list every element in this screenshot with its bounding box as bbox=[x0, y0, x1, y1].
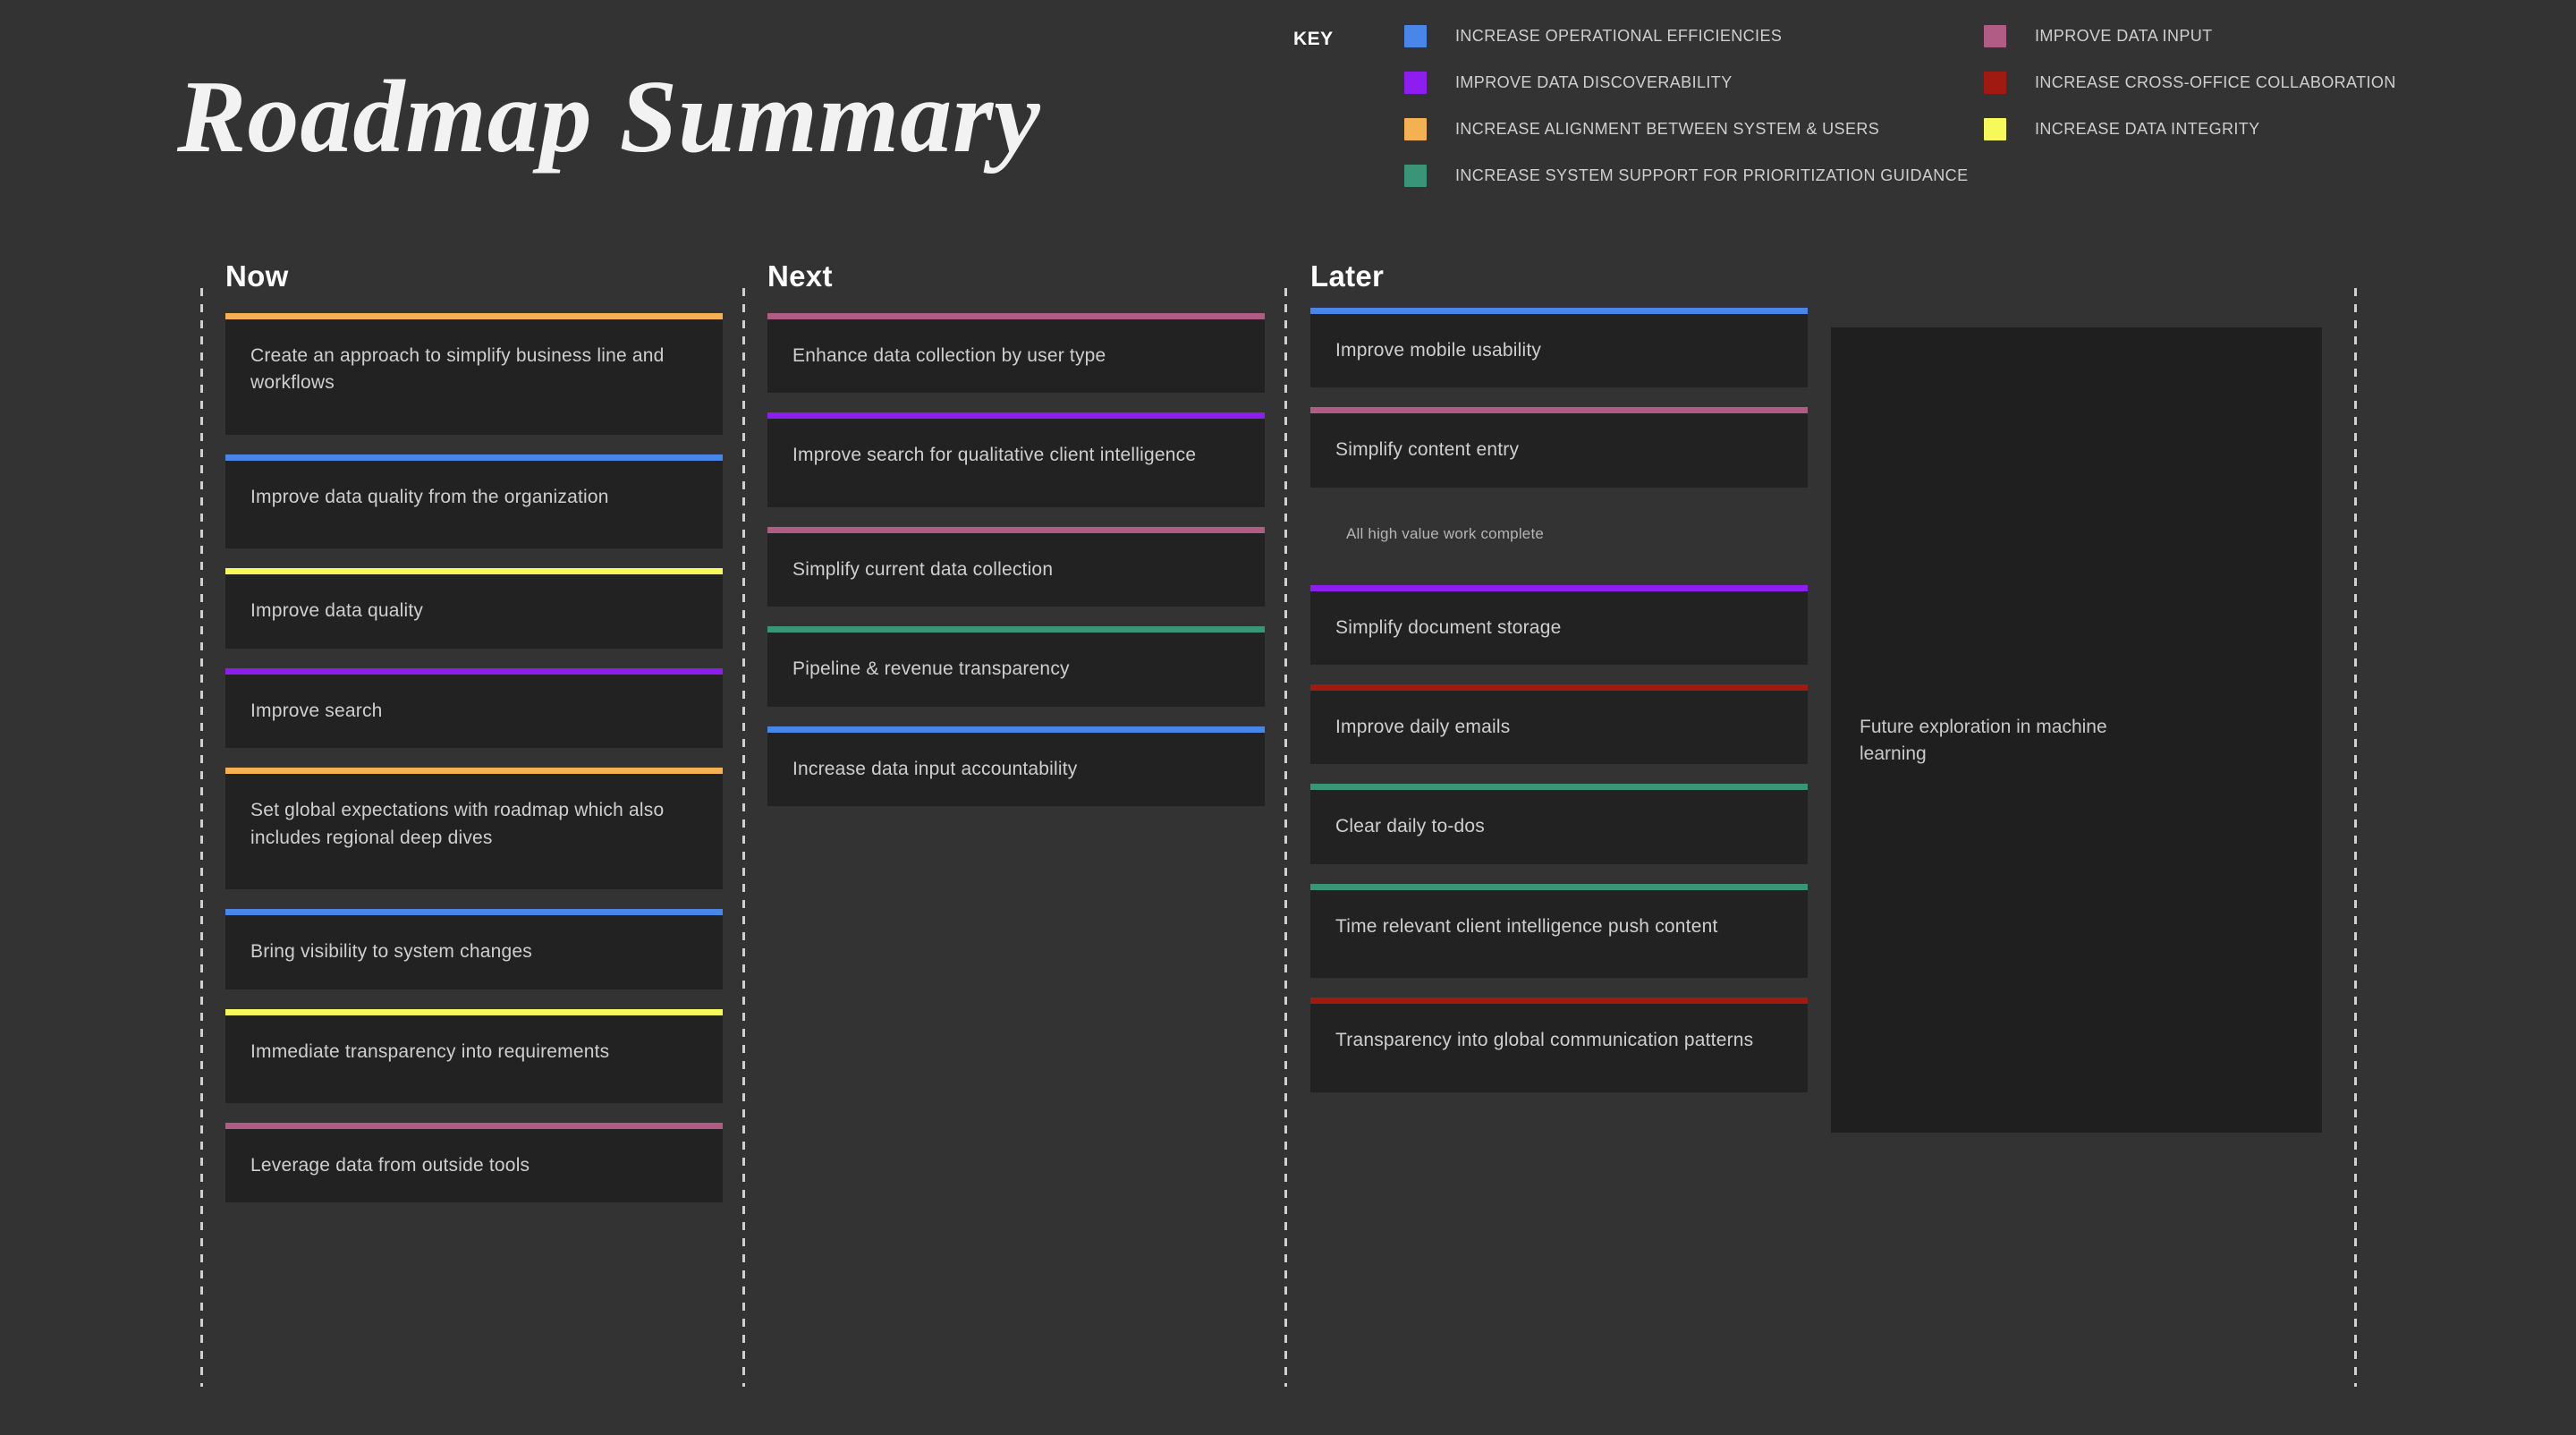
card-label: Immediate transparency into requirements bbox=[225, 1015, 723, 1103]
card-label: Pipeline & revenue transparency bbox=[767, 633, 1265, 706]
legend-item-label: IMPROVE DATA DISCOVERABILITY bbox=[1455, 73, 1733, 92]
card-label: Transparency into global communication p… bbox=[1310, 1004, 1808, 1091]
card-category-bar bbox=[1310, 308, 1808, 314]
legend: KEY INCREASE OPERATIONAL EFFICIENCIESIMP… bbox=[1293, 13, 2563, 183]
column-divider bbox=[1284, 288, 1287, 1387]
roadmap-card[interactable]: Improve daily emails bbox=[1310, 684, 1808, 764]
card-label: Enhance data collection by user type bbox=[767, 319, 1265, 393]
card-label: Set global expectations with roadmap whi… bbox=[225, 774, 723, 889]
column-divider bbox=[742, 288, 745, 1387]
card-label: Improve search bbox=[225, 675, 723, 748]
card-label: Leverage data from outside tools bbox=[225, 1129, 723, 1202]
card-label: Bring visibility to system changes bbox=[225, 915, 723, 989]
roadmap-column-later: Later Improve mobile usabilitySimplify c… bbox=[1310, 259, 1808, 1112]
roadmap-card[interactable]: Time relevant client intelligence push c… bbox=[1310, 884, 1808, 978]
legend-color-swatch bbox=[1984, 118, 2006, 140]
legend-item: INCREASE CROSS-OFFICE COLLABORATION bbox=[1984, 59, 2556, 106]
roadmap-card[interactable]: Pipeline & revenue transparency bbox=[767, 626, 1265, 706]
card-list: Create an approach to simplify business … bbox=[225, 313, 723, 1202]
roadmap-note[interactable]: All high value work complete bbox=[1310, 507, 1808, 562]
legend-color-swatch bbox=[1404, 72, 1427, 94]
roadmap-card[interactable]: Leverage data from outside tools bbox=[225, 1123, 723, 1202]
roadmap-card[interactable]: Bring visibility to system changes bbox=[225, 909, 723, 989]
column-heading: Later bbox=[1310, 259, 1808, 293]
card-label: Create an approach to simplify business … bbox=[225, 319, 723, 435]
future-exploration-panel[interactable]: Future exploration in machine learning bbox=[1831, 327, 2322, 1133]
card-label: Simplify document storage bbox=[1310, 591, 1808, 665]
legend-item-label: INCREASE CROSS-OFFICE COLLABORATION bbox=[2035, 73, 2396, 92]
card-category-bar bbox=[225, 909, 723, 915]
card-category-bar bbox=[1310, 784, 1808, 790]
card-label: Improve data quality bbox=[225, 574, 723, 648]
legend-color-swatch bbox=[1404, 118, 1427, 140]
page-title: Roadmap Summary bbox=[177, 61, 1041, 175]
legend-item: INCREASE DATA INTEGRITY bbox=[1984, 106, 2556, 152]
roadmap-column-next: Next Enhance data collection by user typ… bbox=[767, 259, 1265, 826]
legend-color-swatch bbox=[1404, 165, 1427, 187]
legend-item: INCREASE OPERATIONAL EFFICIENCIES bbox=[1404, 13, 2084, 59]
card-category-bar bbox=[225, 668, 723, 675]
legend-column-left: INCREASE OPERATIONAL EFFICIENCIESIMPROVE… bbox=[1404, 13, 2084, 199]
card-label: Improve search for qualitative client in… bbox=[767, 419, 1265, 506]
roadmap-card[interactable]: Improve data quality from the organizati… bbox=[225, 454, 723, 548]
card-list: Enhance data collection by user typeImpr… bbox=[767, 313, 1265, 806]
legend-item-label: INCREASE ALIGNMENT BETWEEN SYSTEM & USER… bbox=[1455, 120, 1879, 139]
card-list: Improve mobile usabilitySimplify content… bbox=[1310, 308, 1808, 1092]
card-category-bar bbox=[225, 313, 723, 319]
roadmap-card[interactable]: Increase data input accountability bbox=[767, 726, 1265, 806]
legend-item-label: INCREASE DATA INTEGRITY bbox=[2035, 120, 2260, 139]
card-category-bar bbox=[225, 454, 723, 461]
card-label: Simplify current data collection bbox=[767, 533, 1265, 607]
card-label: All high value work complete bbox=[1310, 507, 1808, 562]
legend-item-label: INCREASE OPERATIONAL EFFICIENCIES bbox=[1455, 27, 1782, 46]
legend-item: IMPROVE DATA INPUT bbox=[1984, 13, 2556, 59]
roadmap-card[interactable]: Enhance data collection by user type bbox=[767, 313, 1265, 393]
roadmap-card[interactable]: Set global expectations with roadmap whi… bbox=[225, 768, 723, 889]
card-category-bar bbox=[225, 1123, 723, 1129]
roadmap-card[interactable]: Immediate transparency into requirements bbox=[225, 1009, 723, 1103]
column-divider bbox=[2354, 288, 2357, 1387]
card-label: Clear daily to-dos bbox=[1310, 790, 1808, 863]
legend-item: INCREASE ALIGNMENT BETWEEN SYSTEM & USER… bbox=[1404, 106, 2084, 152]
legend-title: KEY bbox=[1293, 29, 1334, 50]
card-label: Simplify content entry bbox=[1310, 413, 1808, 487]
legend-color-swatch bbox=[1984, 72, 2006, 94]
column-heading: Now bbox=[225, 259, 723, 293]
column-divider bbox=[200, 288, 203, 1387]
card-category-bar bbox=[225, 568, 723, 574]
card-category-bar bbox=[1310, 884, 1808, 890]
roadmap-card[interactable]: Simplify document storage bbox=[1310, 585, 1808, 665]
card-label: Improve mobile usability bbox=[1310, 314, 1808, 387]
future-exploration-label: Future exploration in machine learning bbox=[1860, 714, 2128, 768]
roadmap-card[interactable]: Improve mobile usability bbox=[1310, 308, 1808, 387]
legend-item: IMPROVE DATA DISCOVERABILITY bbox=[1404, 59, 2084, 106]
column-heading: Next bbox=[767, 259, 1265, 293]
legend-item-label: IMPROVE DATA INPUT bbox=[2035, 27, 2213, 46]
card-label: Increase data input accountability bbox=[767, 733, 1265, 806]
legend-color-swatch bbox=[1404, 25, 1427, 47]
card-category-bar bbox=[225, 1009, 723, 1015]
card-category-bar bbox=[767, 626, 1265, 633]
legend-color-swatch bbox=[1984, 25, 2006, 47]
card-category-bar bbox=[1310, 407, 1808, 413]
card-category-bar bbox=[1310, 684, 1808, 691]
roadmap-column-now: Now Create an approach to simplify busin… bbox=[225, 259, 723, 1222]
card-category-bar bbox=[767, 412, 1265, 419]
card-category-bar bbox=[767, 726, 1265, 733]
roadmap-card[interactable]: Transparency into global communication p… bbox=[1310, 998, 1808, 1091]
roadmap-card[interactable]: Clear daily to-dos bbox=[1310, 784, 1808, 863]
roadmap-card[interactable]: Improve search bbox=[225, 668, 723, 748]
legend-column-right: IMPROVE DATA INPUTINCREASE CROSS-OFFICE … bbox=[1984, 13, 2556, 152]
legend-item: INCREASE SYSTEM SUPPORT FOR PRIORITIZATI… bbox=[1404, 152, 2084, 199]
legend-item-label: INCREASE SYSTEM SUPPORT FOR PRIORITIZATI… bbox=[1455, 166, 1968, 185]
card-label: Improve daily emails bbox=[1310, 691, 1808, 764]
roadmap-card[interactable]: Simplify content entry bbox=[1310, 407, 1808, 487]
card-label: Time relevant client intelligence push c… bbox=[1310, 890, 1808, 978]
roadmap-card[interactable]: Improve data quality bbox=[225, 568, 723, 648]
card-category-bar bbox=[225, 768, 723, 774]
roadmap-card[interactable]: Improve search for qualitative client in… bbox=[767, 412, 1265, 506]
roadmap-card[interactable]: Simplify current data collection bbox=[767, 527, 1265, 607]
roadmap-card[interactable]: Create an approach to simplify business … bbox=[225, 313, 723, 435]
card-category-bar bbox=[767, 527, 1265, 533]
card-category-bar bbox=[767, 313, 1265, 319]
card-label: Improve data quality from the organizati… bbox=[225, 461, 723, 548]
card-category-bar bbox=[1310, 585, 1808, 591]
card-category-bar bbox=[1310, 998, 1808, 1004]
